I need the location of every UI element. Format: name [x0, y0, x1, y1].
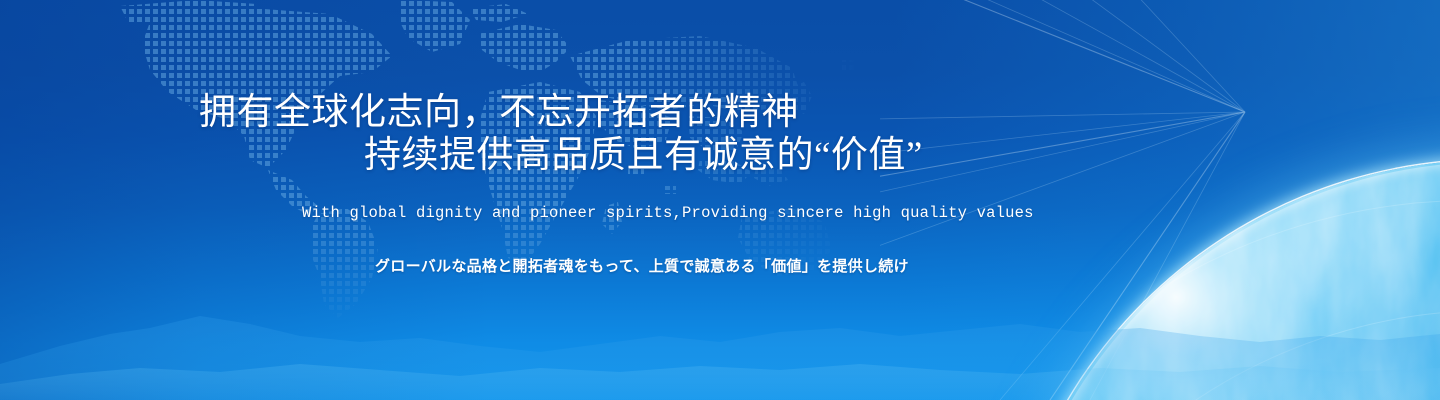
subtitle-english: With global dignity and pioneer spirits,…	[302, 206, 1034, 222]
subtitle-japanese: グローバルな品格と開拓者魂をもって、上質で誠意ある「価値」を提供し続け	[375, 259, 909, 274]
headline-line-1: 拥有全球化志向，不忘开拓者的精神	[199, 94, 799, 131]
headline-line-2: 持续提供高品质且有诚意的“价值”	[364, 137, 923, 174]
banner-copy: 拥有全球化志向，不忘开拓者的精神 持续提供高品质且有诚意的“价值” With g…	[0, 0, 1440, 400]
hero-banner: 拥有全球化志向，不忘开拓者的精神 持续提供高品质且有诚意的“价值” With g…	[0, 0, 1440, 400]
